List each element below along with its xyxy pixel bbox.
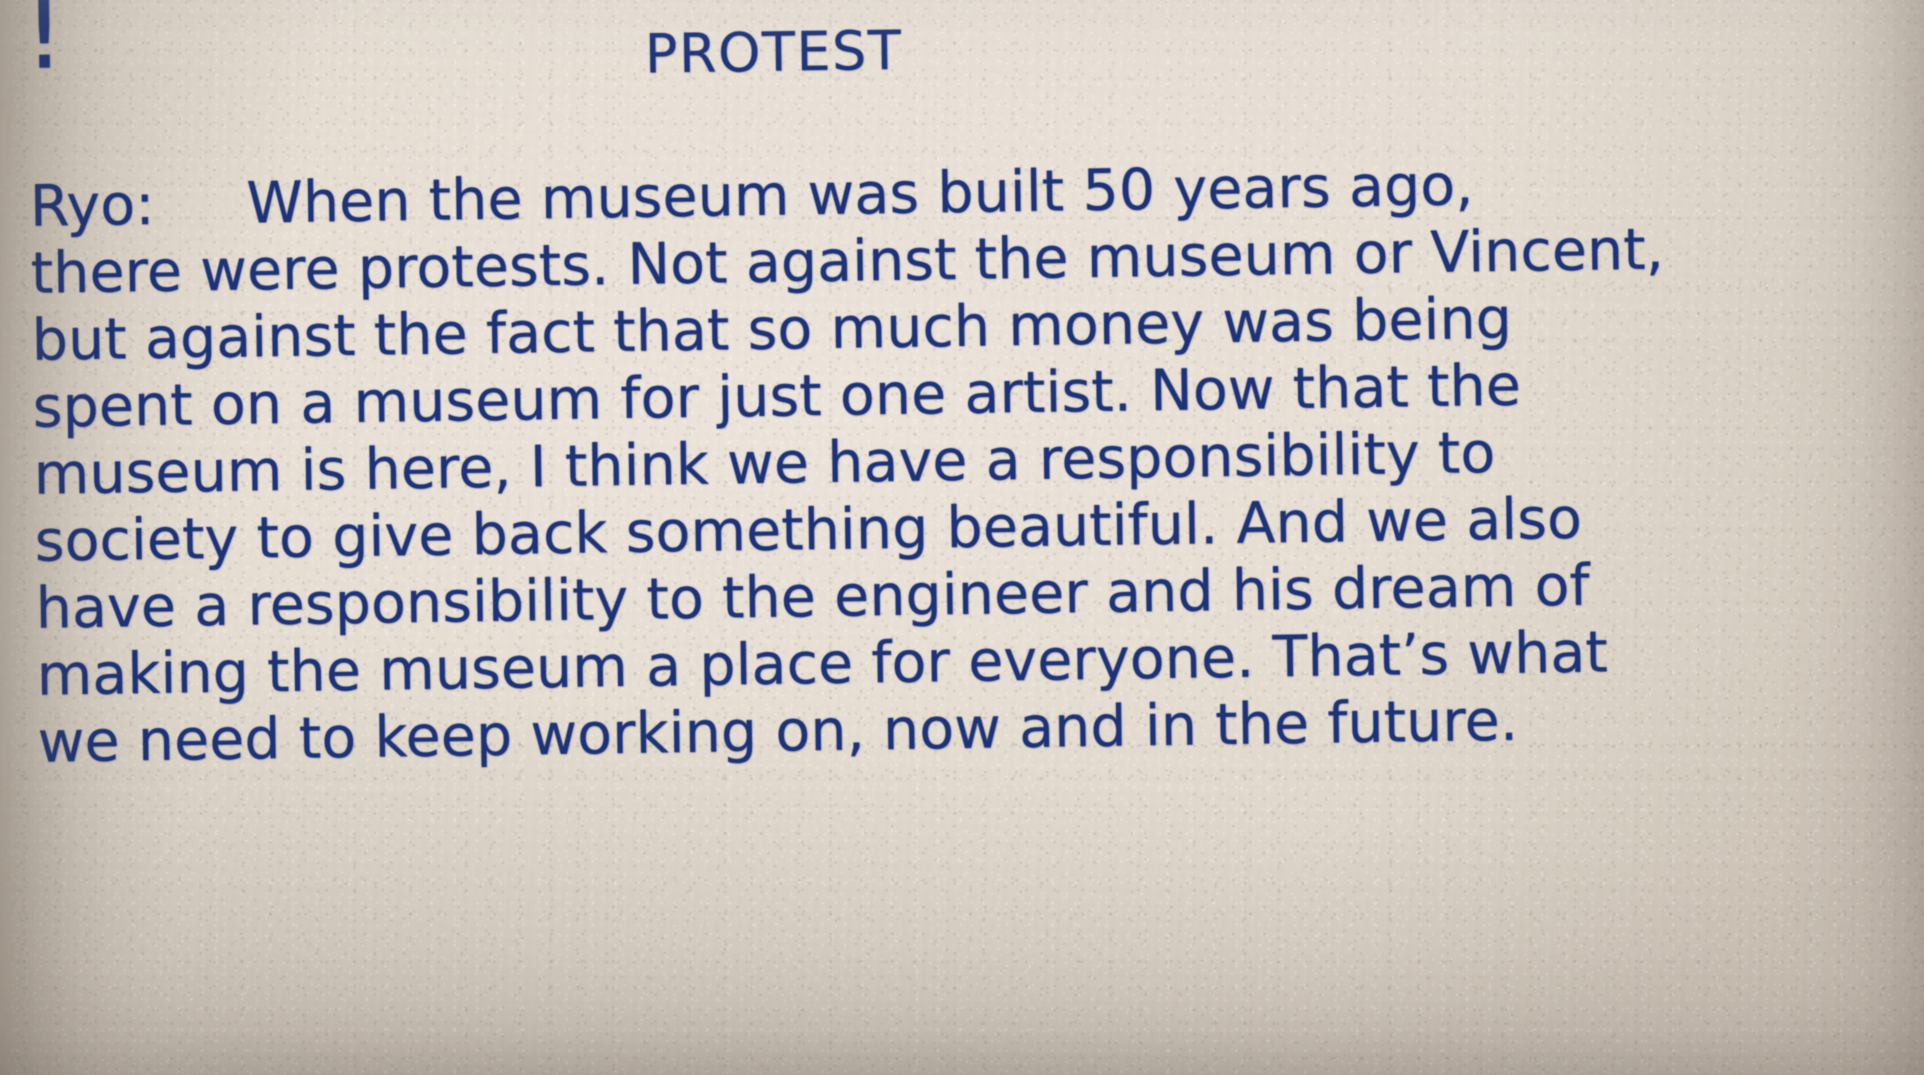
panel-body-text: Ryo:When the museum was built 50 years a… — [29, 144, 1924, 777]
speaker-label: Ryo: — [29, 172, 155, 240]
speaker-indent-gap — [155, 223, 247, 224]
museum-wall-text-panel: ! PROTEST Ryo:When the museum was built … — [0, 0, 1924, 1075]
